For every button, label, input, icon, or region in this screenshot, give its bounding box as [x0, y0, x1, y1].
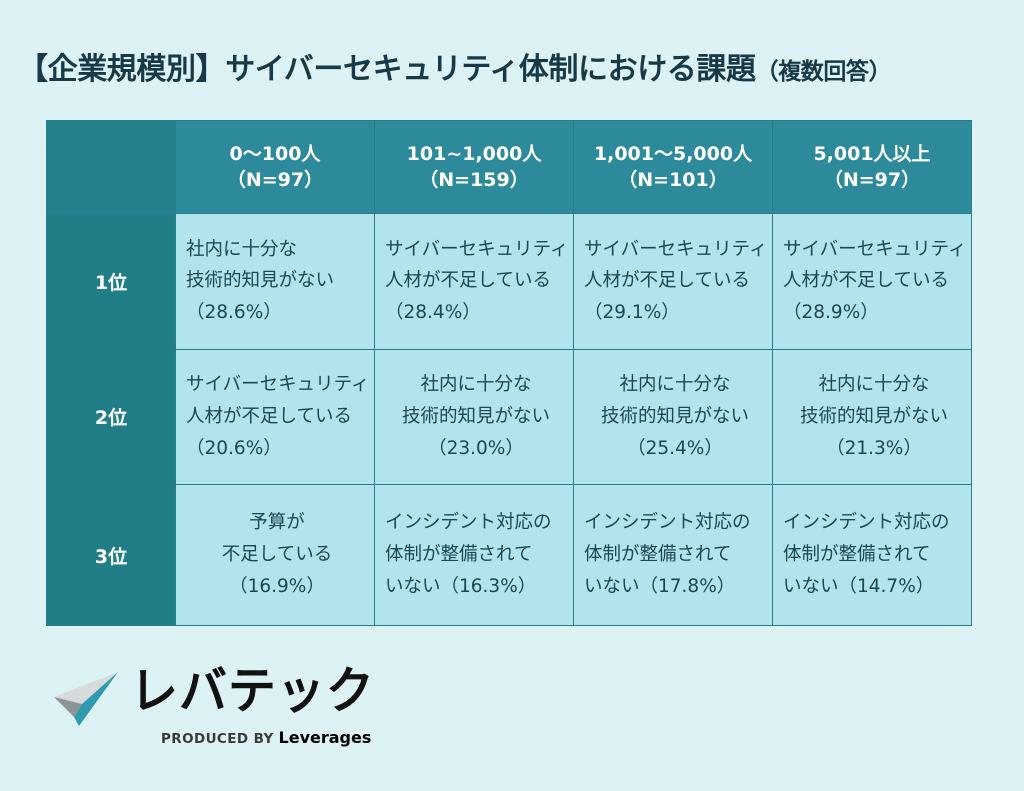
cell-r1-c2-line3: （25.4%） [584, 433, 766, 465]
cell-r1-c3-line2: 技術的知見がない [783, 401, 965, 433]
cell-r2-c1-line3: いない（16.3%） [385, 571, 567, 603]
cell-r0-c0-line1: 社内に十分な [186, 234, 368, 266]
paper-plane-icon [52, 670, 130, 732]
cell-r2-c3-line1: インシデント対応の [783, 507, 965, 539]
column-header-0: 0〜100人 （N=97） [176, 121, 375, 214]
rank-label-2: 3位 [47, 485, 176, 626]
cell-r2-c2-line3: いない（17.8%） [584, 571, 766, 603]
table-header: 0〜100人 （N=97） 101~1,000人 （N=159） 1,001〜5… [47, 121, 972, 214]
cell-r2-c0: 予算が 不足している （16.9%） [176, 485, 375, 626]
column-header-3-line1: 5,001人以上 [813, 143, 930, 165]
column-header-1-line2: （N=159） [375, 167, 573, 193]
cell-r1-c2-line1: 社内に十分な [584, 369, 766, 401]
logo-tagline: PRODUCED BY Leverages [161, 728, 371, 747]
table-row: 3位 予算が 不足している （16.9%） インシデント対応の 体制が整備されて… [47, 485, 972, 626]
ranking-table: 0〜100人 （N=97） 101~1,000人 （N=159） 1,001〜5… [46, 120, 972, 626]
cell-r0-c2: サイバーセキュリティ 人材が不足している （29.1%） [574, 214, 773, 350]
logo-wordmark: レバテック [130, 666, 375, 716]
cell-r2-c0-line2: 不足している [186, 539, 368, 571]
cell-r1-c3-line1: 社内に十分な [783, 369, 965, 401]
cell-r0-c1-line1: サイバーセキュリティ [385, 234, 567, 266]
cell-r2-c1-line2: 体制が整備されて [385, 539, 567, 571]
column-header-3-line2: （N=97） [773, 167, 971, 193]
page-title: 【企業規模別】サイバーセキュリティ体制における課題（複数回答） [18, 52, 1012, 88]
logo-company-name: Leverages [279, 728, 372, 747]
cell-r0-c3: サイバーセキュリティ 人材が不足している （28.9%） [773, 214, 972, 350]
slide-canvas: 【企業規模別】サイバーセキュリティ体制における課題（複数回答） 0〜100人 （… [0, 0, 1024, 791]
cell-r0-c1-line2: 人材が不足している [385, 265, 567, 297]
table-row: 1位 社内に十分な 技術的知見がない （28.6%） サイバーセキュリティ 人材… [47, 214, 972, 350]
cell-r1-c0-line2: 人材が不足している [186, 401, 368, 433]
cell-r1-c0-line3: （20.6%） [186, 433, 368, 465]
cell-r1-c1-line1: 社内に十分な [385, 369, 567, 401]
cell-r2-c3: インシデント対応の 体制が整備されて いない（14.7%） [773, 485, 972, 626]
column-header-2-line2: （N=101） [574, 167, 772, 193]
cell-r0-c1: サイバーセキュリティ 人材が不足している （28.4%） [375, 214, 574, 350]
cell-r1-c1: 社内に十分な 技術的知見がない （23.0%） [375, 349, 574, 485]
cell-r1-c0: サイバーセキュリティ 人材が不足している （20.6%） [176, 349, 375, 485]
cell-r1-c1-line3: （23.0%） [385, 433, 567, 465]
cell-r1-c2: 社内に十分な 技術的知見がない （25.4%） [574, 349, 773, 485]
column-header-0-line1: 0〜100人 [230, 143, 321, 165]
cell-r2-c3-line2: 体制が整備されて [783, 539, 965, 571]
cell-r0-c0: 社内に十分な 技術的知見がない （28.6%） [176, 214, 375, 350]
cell-r2-c3-line3: いない（14.7%） [783, 571, 965, 603]
cell-r2-c0-line3: （16.9%） [186, 571, 368, 603]
cell-r0-c3-line1: サイバーセキュリティ [783, 234, 965, 266]
cell-r0-c3-line2: 人材が不足している [783, 265, 965, 297]
cell-r0-c3-line3: （28.9%） [783, 297, 965, 329]
cell-r1-c3-line3: （21.3%） [783, 433, 965, 465]
page-title-main: 【企業規模別】サイバーセキュリティ体制における課題 [18, 52, 756, 87]
cell-r2-c0-line1: 予算が [186, 507, 368, 539]
cell-r0-c2-line1: サイバーセキュリティ [584, 234, 766, 266]
cell-r0-c0-line2: 技術的知見がない [186, 265, 368, 297]
cell-r2-c2: インシデント対応の 体制が整備されて いない（17.8%） [574, 485, 773, 626]
column-header-1: 101~1,000人 （N=159） [375, 121, 574, 214]
cell-r1-c0-line1: サイバーセキュリティ [186, 369, 368, 401]
table-row: 2位 サイバーセキュリティ 人材が不足している （20.6%） 社内に十分な 技… [47, 349, 972, 485]
column-header-0-line2: （N=97） [176, 167, 374, 193]
cell-r2-c2-line2: 体制が整備されて [584, 539, 766, 571]
cell-r2-c1-line1: インシデント対応の [385, 507, 567, 539]
cell-r1-c2-line2: 技術的知見がない [584, 401, 766, 433]
rank-label-0: 1位 [47, 214, 176, 350]
cell-r0-c2-line3: （29.1%） [584, 297, 766, 329]
page-title-note: （複数回答） [756, 59, 892, 85]
column-header-2: 1,001〜5,000人 （N=101） [574, 121, 773, 214]
rank-label-1: 2位 [47, 349, 176, 485]
cell-r1-c1-line2: 技術的知見がない [385, 401, 567, 433]
brand-logo: レバテック PRODUCED BY Leverages [52, 666, 352, 754]
cell-r0-c1-line3: （28.4%） [385, 297, 567, 329]
logo-produced-by: PRODUCED BY [161, 731, 274, 747]
cell-r1-c3: 社内に十分な 技術的知見がない （21.3%） [773, 349, 972, 485]
table-corner-cell [47, 121, 176, 214]
column-header-2-line1: 1,001〜5,000人 [594, 143, 752, 165]
table-header-row: 0〜100人 （N=97） 101~1,000人 （N=159） 1,001〜5… [47, 121, 972, 214]
cell-r2-c1: インシデント対応の 体制が整備されて いない（16.3%） [375, 485, 574, 626]
column-header-1-line1: 101~1,000人 [407, 143, 542, 165]
column-header-3: 5,001人以上 （N=97） [773, 121, 972, 214]
cell-r2-c2-line1: インシデント対応の [584, 507, 766, 539]
cell-r0-c2-line2: 人材が不足している [584, 265, 766, 297]
table-body: 1位 社内に十分な 技術的知見がない （28.6%） サイバーセキュリティ 人材… [47, 214, 972, 626]
ranking-table-container: 0〜100人 （N=97） 101~1,000人 （N=159） 1,001〜5… [46, 120, 972, 626]
cell-r0-c0-line3: （28.6%） [186, 297, 368, 329]
